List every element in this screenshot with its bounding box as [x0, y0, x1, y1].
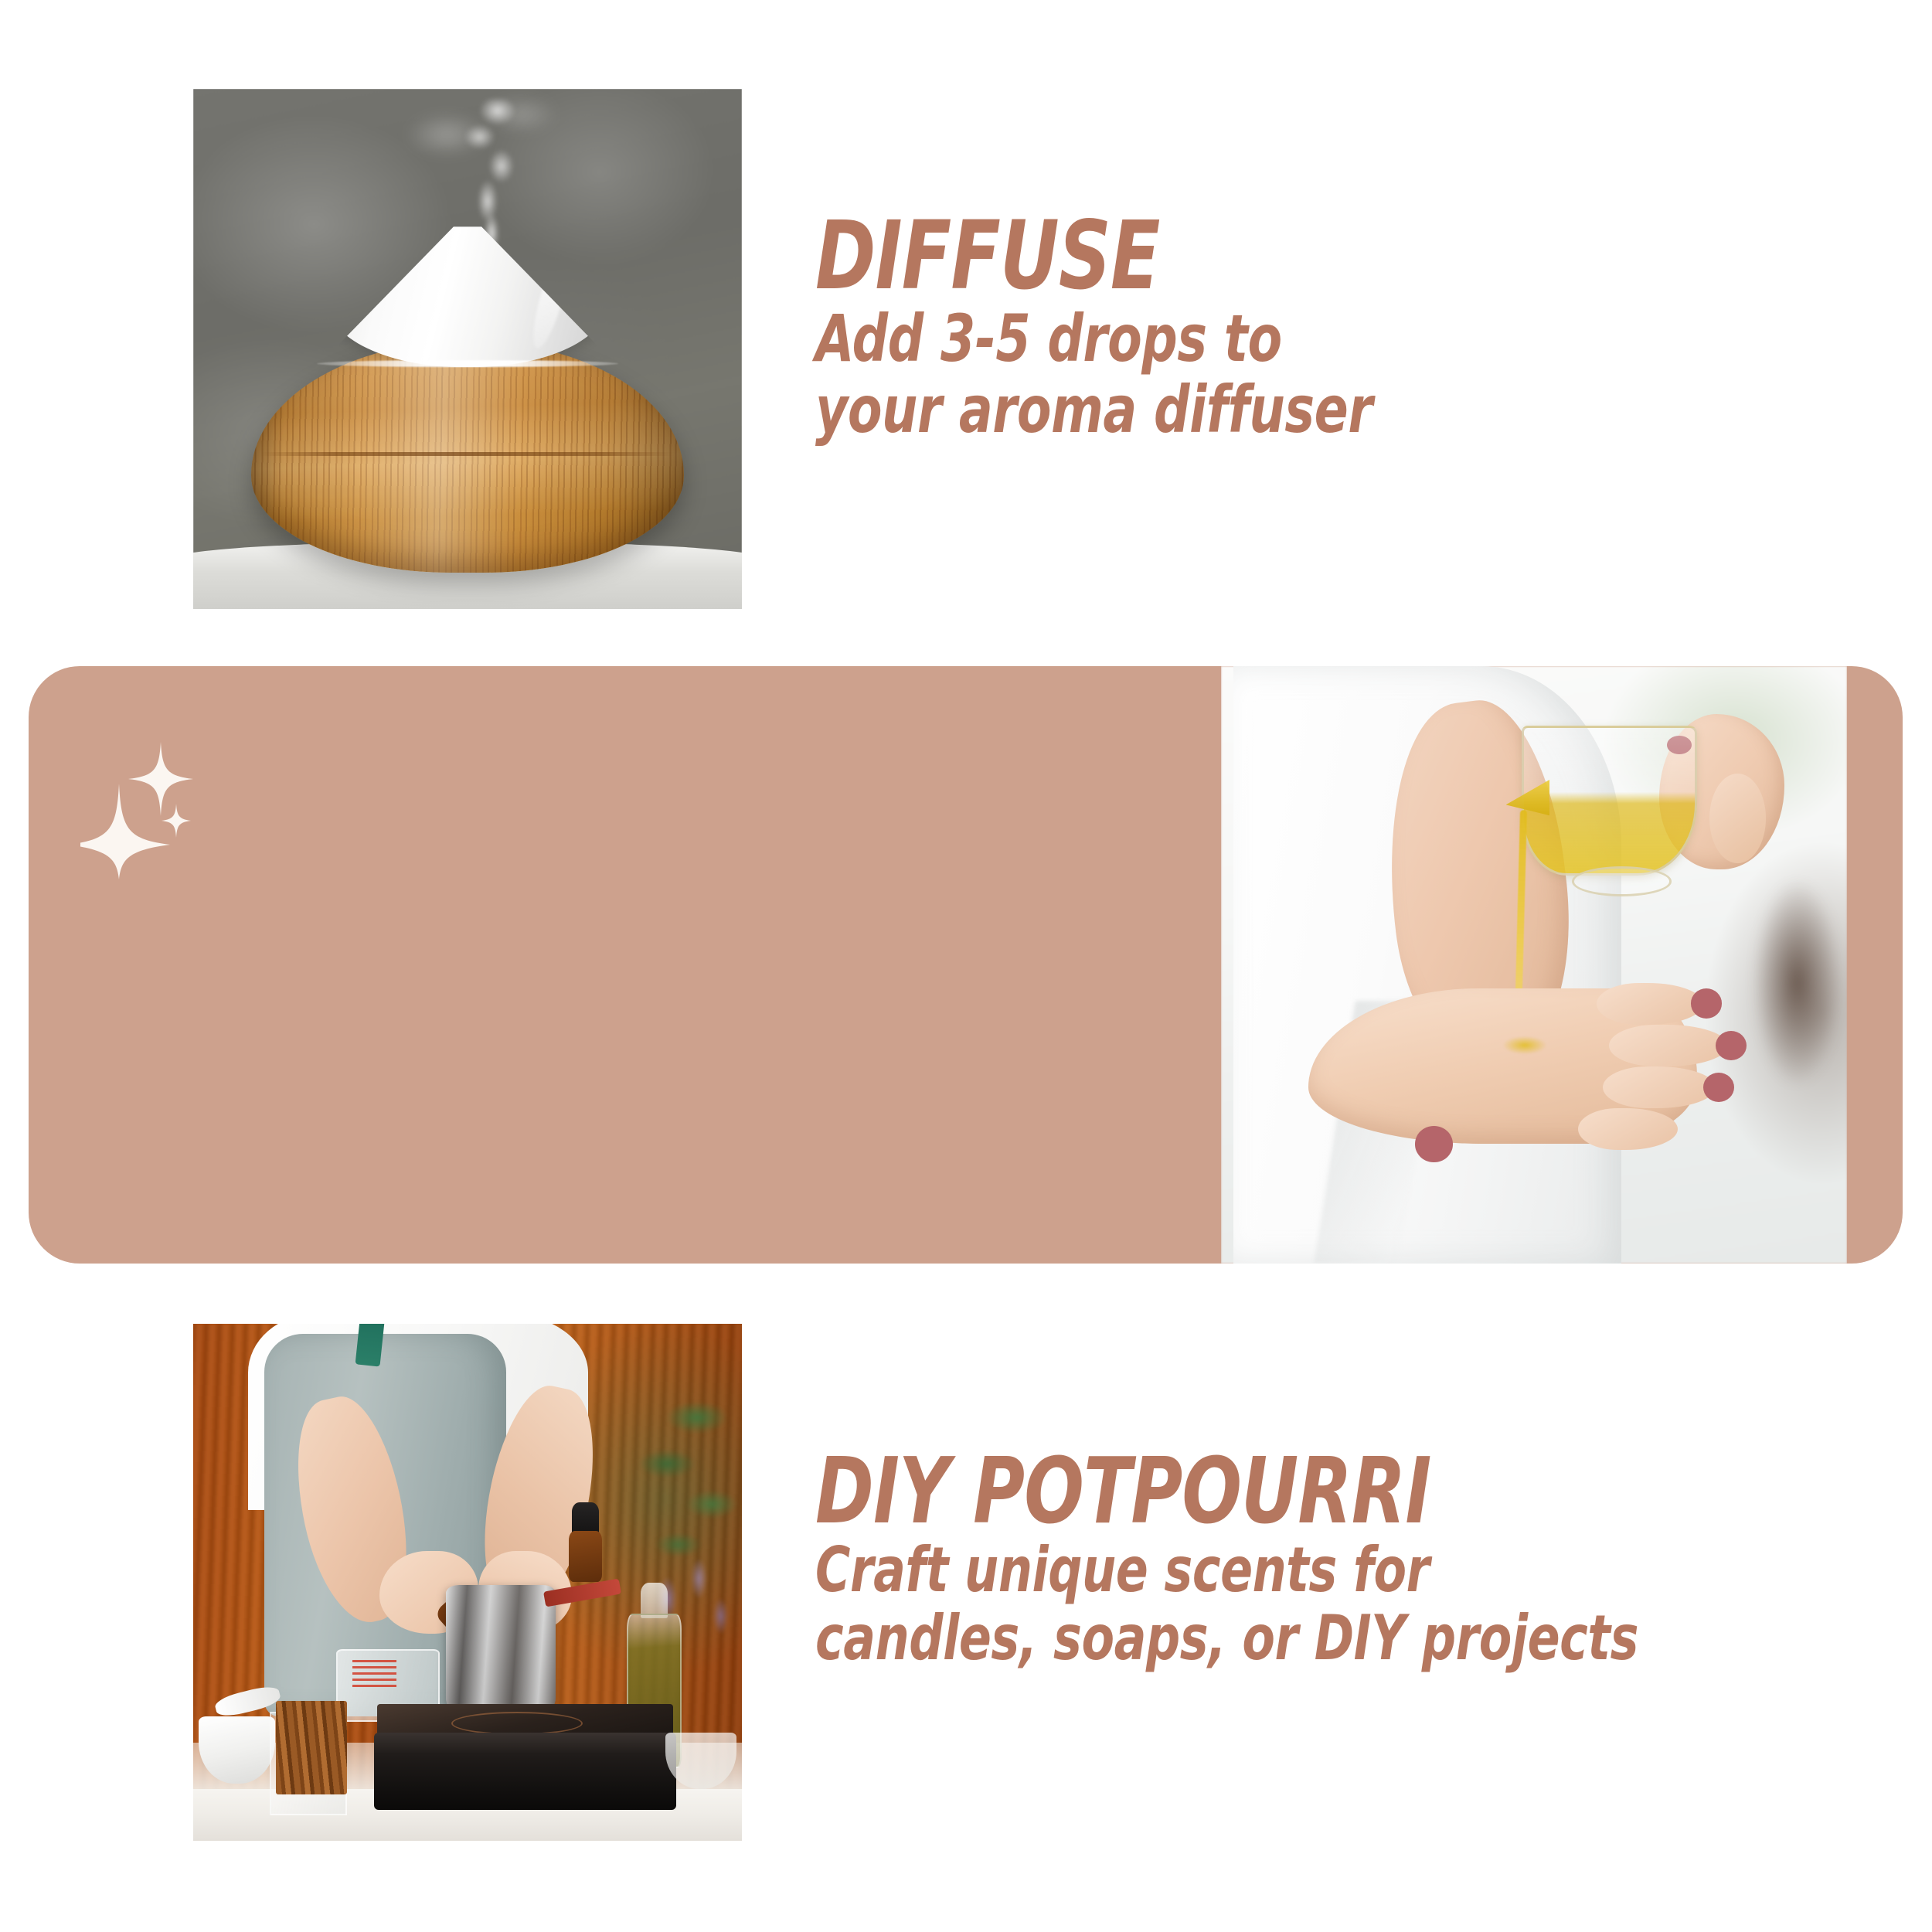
induction-hotplate — [374, 1733, 676, 1810]
finger — [1603, 1066, 1716, 1108]
diy-potpourri-title: DIY POTPOURRI — [815, 1445, 1679, 1536]
diy-potpourri-subtitle-line-1: Craft unique scents for — [815, 1536, 1679, 1604]
diy-potpourri-subtitle-line-2: candles, soaps, or DIY projects — [815, 1604, 1679, 1672]
wood-seam — [260, 452, 675, 456]
diy-potpourri-photo — [193, 1324, 742, 1841]
fingernail — [1703, 1073, 1735, 1103]
cinnamon-sticks — [276, 1701, 347, 1794]
infographic-poster: DIFFUSE Add 3-5 drops to your aroma diff… — [0, 0, 1932, 1932]
diy-potpourri-subtitle: Craft unique scents for candles, soaps, … — [815, 1536, 1820, 1672]
sparkle-icon — [128, 742, 193, 816]
diffuse-subtitle: Add 3-5 drops to your aroma diffuser — [815, 303, 1743, 446]
metal-melting-pot — [446, 1585, 556, 1719]
diffuse-text-block: DIFFUSE Add 3-5 drops to your aroma diff… — [815, 209, 1743, 446]
sparkle-icon — [80, 784, 170, 879]
diffuser-photo — [193, 89, 742, 609]
hotplate-heat-ring — [451, 1712, 583, 1735]
massage-oil-photo — [1221, 666, 1847, 1264]
fingernail — [1691, 988, 1723, 1019]
diffuse-subtitle-line-1: Add 3-5 drops to — [815, 303, 1613, 374]
thumb — [1709, 774, 1766, 863]
diffuse-subtitle-line-2: your aroma diffuser — [815, 374, 1613, 445]
measuring-marks — [352, 1660, 396, 1691]
pitcher-foot — [1572, 866, 1672, 896]
oil-in-palm — [1503, 1036, 1547, 1054]
sparkle-decoration-group — [80, 736, 235, 883]
sparkle-icon — [162, 804, 191, 838]
diy-potpourri-text-block: DIY POTPOURRI Craft unique scents for ca… — [815, 1445, 1820, 1672]
finger — [1609, 1025, 1728, 1066]
amber-dropper-bottle — [569, 1531, 602, 1583]
background-blur-shape — [1753, 881, 1841, 1084]
steam-plume — [440, 99, 539, 244]
diffuse-title: DIFFUSE — [815, 209, 1613, 303]
finger — [1597, 983, 1703, 1025]
fingernail — [1415, 1126, 1453, 1162]
massage-oil-panel: MASSAGE OIL Dilute 5-10 drops in a 2% ra… — [29, 666, 1903, 1264]
